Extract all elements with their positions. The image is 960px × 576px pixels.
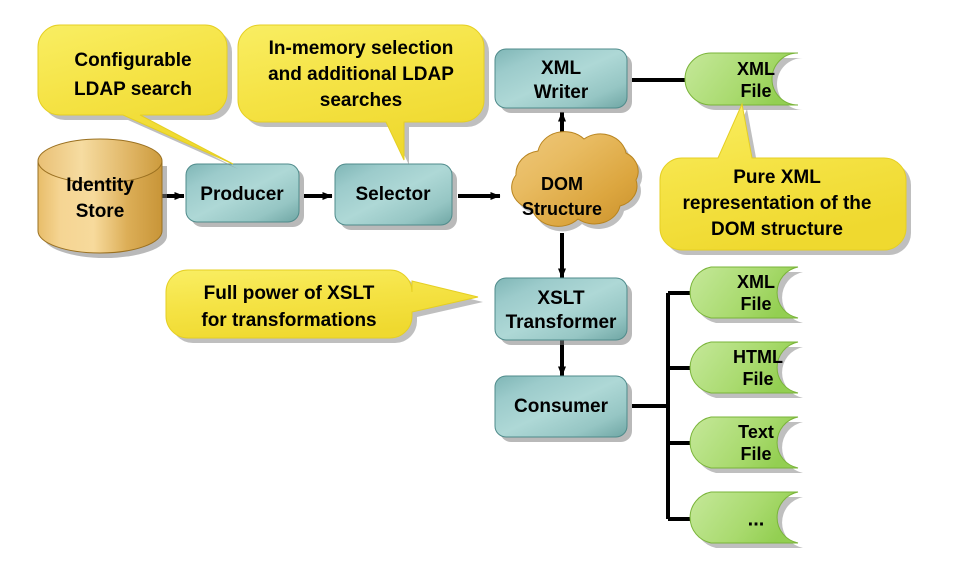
callout-in-memory-line1: In-memory selection <box>269 38 454 59</box>
callout-configurable-ldap-line2: LDAP search <box>74 79 192 100</box>
node-html-file-out[interactable]: HTML File <box>690 342 803 398</box>
html-file-out-label-line1: HTML <box>733 347 783 367</box>
identity-store-label-line2: Store <box>76 201 125 222</box>
xslt-transformer-label-line1: XSLT <box>537 288 585 309</box>
node-consumer[interactable]: Consumer <box>495 376 632 442</box>
xml-writer-label-line2: Writer <box>534 82 589 103</box>
callout-in-memory-line2: and additional LDAP <box>268 64 454 85</box>
pipeline-diagram: Identity Store Producer Selector DOM Str… <box>0 0 960 576</box>
xslt-transformer-label-line2: Transformer <box>506 312 617 333</box>
diagram-canvas: Identity Store Producer Selector DOM Str… <box>0 0 960 576</box>
more-files-out-label-line1: ... <box>748 508 765 530</box>
callout-in-memory-selection[interactable]: In-memory selection and additional LDAP … <box>238 25 489 165</box>
xml-file-out-label-line2: File <box>740 294 771 314</box>
text-file-out-label-line1: Text <box>738 422 774 442</box>
callout-configurable-ldap-line1: Configurable <box>74 50 191 71</box>
identity-store-label-line1: Identity <box>66 175 134 196</box>
node-identity-store[interactable]: Identity Store <box>38 139 167 258</box>
callout-in-memory-line3: searches <box>320 90 402 111</box>
node-selector[interactable]: Selector <box>335 164 457 230</box>
callout-full-power-xslt[interactable]: Full power of XSLT for transformations <box>166 270 483 343</box>
consumer-label: Consumer <box>514 396 609 417</box>
dom-structure-label-line2: Structure <box>522 199 602 219</box>
node-more-files-out[interactable]: ... <box>690 492 803 548</box>
dom-structure-label-line1: DOM <box>541 174 583 194</box>
selector-label: Selector <box>356 184 432 205</box>
producer-label: Producer <box>200 184 284 205</box>
callout-pure-xml-line2: representation of the <box>683 193 872 214</box>
node-xml-file-out[interactable]: XML File <box>690 267 803 323</box>
text-file-out-label-line2: File <box>740 444 771 464</box>
node-dom-structure[interactable]: DOM Structure <box>512 132 643 232</box>
xml-file-top-label-line2: File <box>740 81 771 101</box>
callout-full-power-line1: Full power of XSLT <box>204 283 375 304</box>
xml-file-out-label-line1: XML <box>737 272 775 292</box>
callout-pure-xml-line3: DOM structure <box>711 219 843 240</box>
xml-file-top-label-line1: XML <box>737 59 775 79</box>
node-xslt-transformer[interactable]: XSLT Transformer <box>495 278 632 345</box>
html-file-out-label-line2: File <box>742 369 773 389</box>
node-producer[interactable]: Producer <box>186 164 304 227</box>
xml-writer-label-line1: XML <box>541 58 582 79</box>
callout-full-power-line2: for transformations <box>201 310 376 331</box>
node-xml-file-top[interactable]: XML File <box>685 53 803 110</box>
branch-trunk <box>632 293 668 519</box>
node-text-file-out[interactable]: Text File <box>690 417 803 473</box>
node-xml-writer[interactable]: XML Writer <box>495 49 632 113</box>
callout-pure-xml-line1: Pure XML <box>733 167 821 188</box>
callout-pure-xml[interactable]: Pure XML representation of the DOM struc… <box>660 104 911 255</box>
